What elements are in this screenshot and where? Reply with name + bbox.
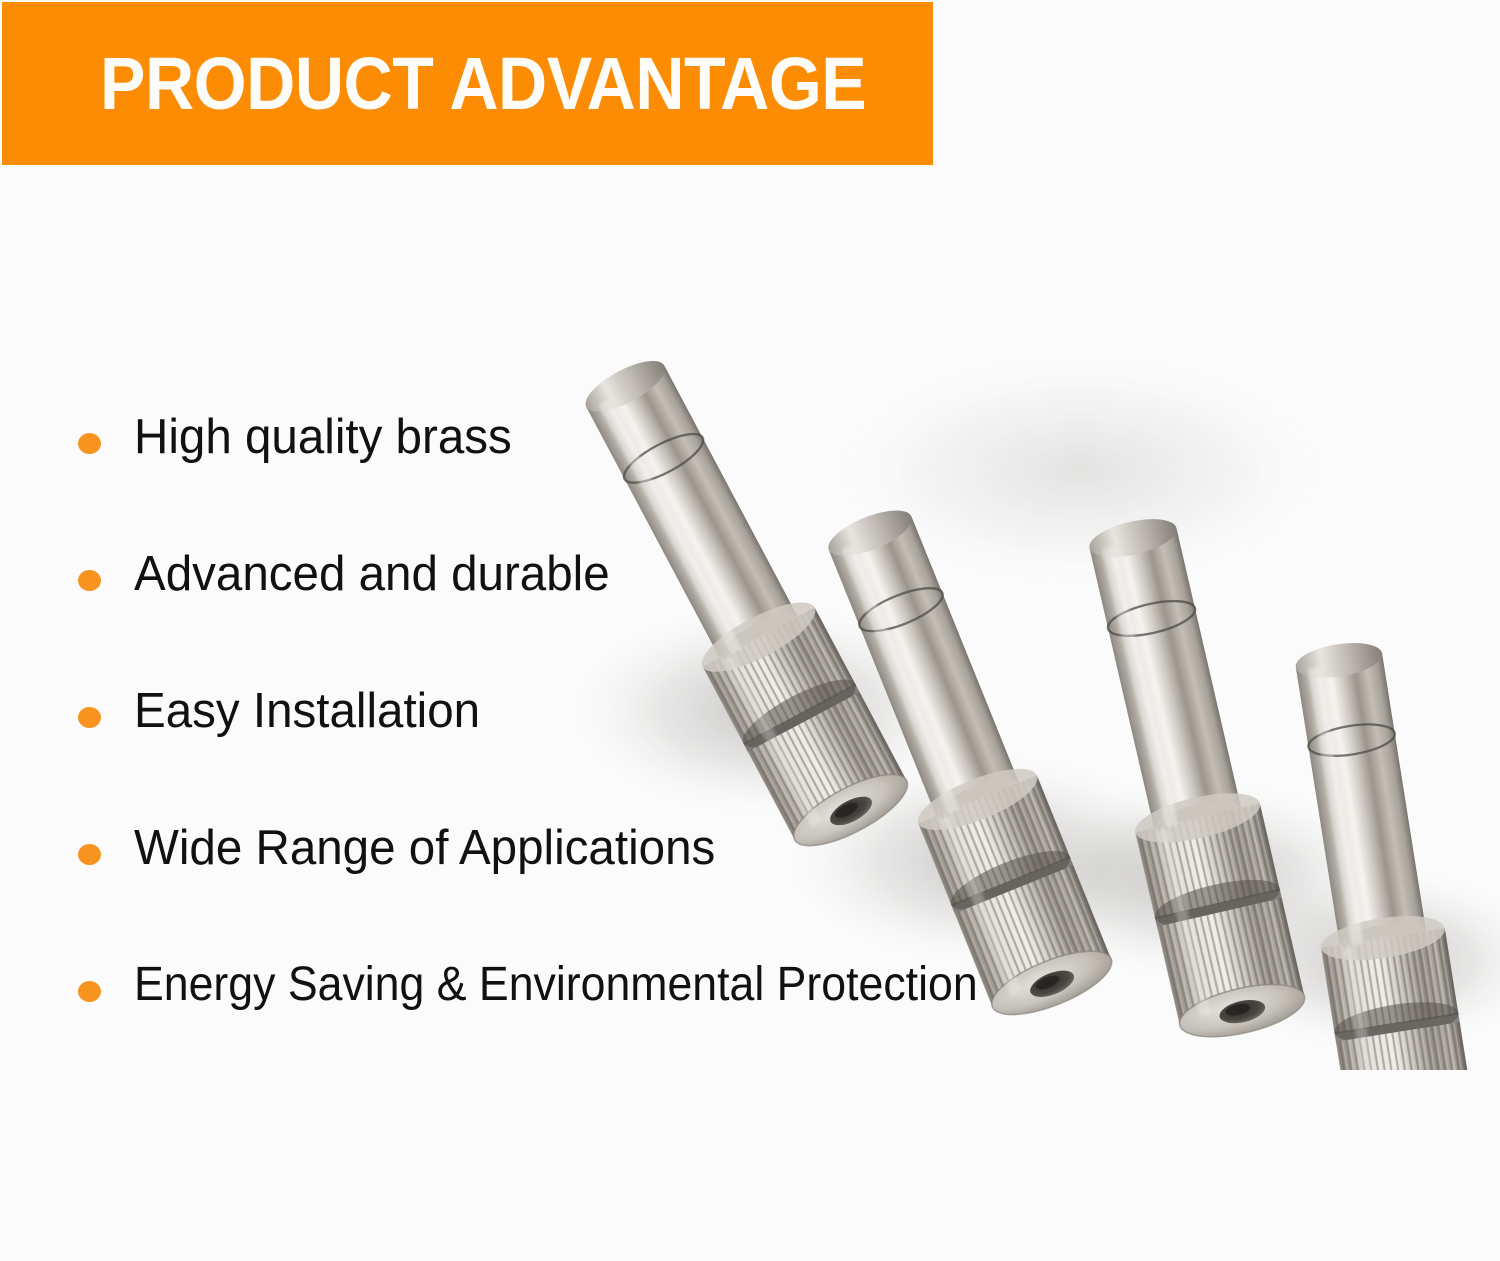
bullet-dot-icon [78,844,101,865]
advantage-item-5: Energy Saving & Environmental Protection [0,943,1100,1080]
advantage-list: High quality brass Advanced and durable … [0,395,1100,1080]
advantage-item-2: Advanced and durable [0,532,1100,669]
advantage-label: Wide Range of Applications [134,820,715,877]
bullet-dot-icon [78,433,101,454]
bullet-dot-icon [78,981,101,1002]
advantage-item-4: Wide Range of Applications [0,806,1100,943]
header-banner: PRODUCT ADVANTAGE [2,2,933,165]
advantage-label: High quality brass [134,409,512,466]
bullet-dot-icon [78,570,101,591]
advantage-label: Easy Installation [134,683,480,740]
advantage-item-3: Easy Installation [0,669,1100,806]
page-title: PRODUCT ADVANTAGE [100,47,866,121]
advantage-label: Advanced and durable [134,546,610,603]
product-advantage-infographic: PRODUCT ADVANTAGE [0,0,1500,1261]
advantage-label: Energy Saving & Environmental Protection [134,957,978,1013]
bullet-dot-icon [78,707,101,728]
advantage-item-1: High quality brass [0,395,1100,532]
